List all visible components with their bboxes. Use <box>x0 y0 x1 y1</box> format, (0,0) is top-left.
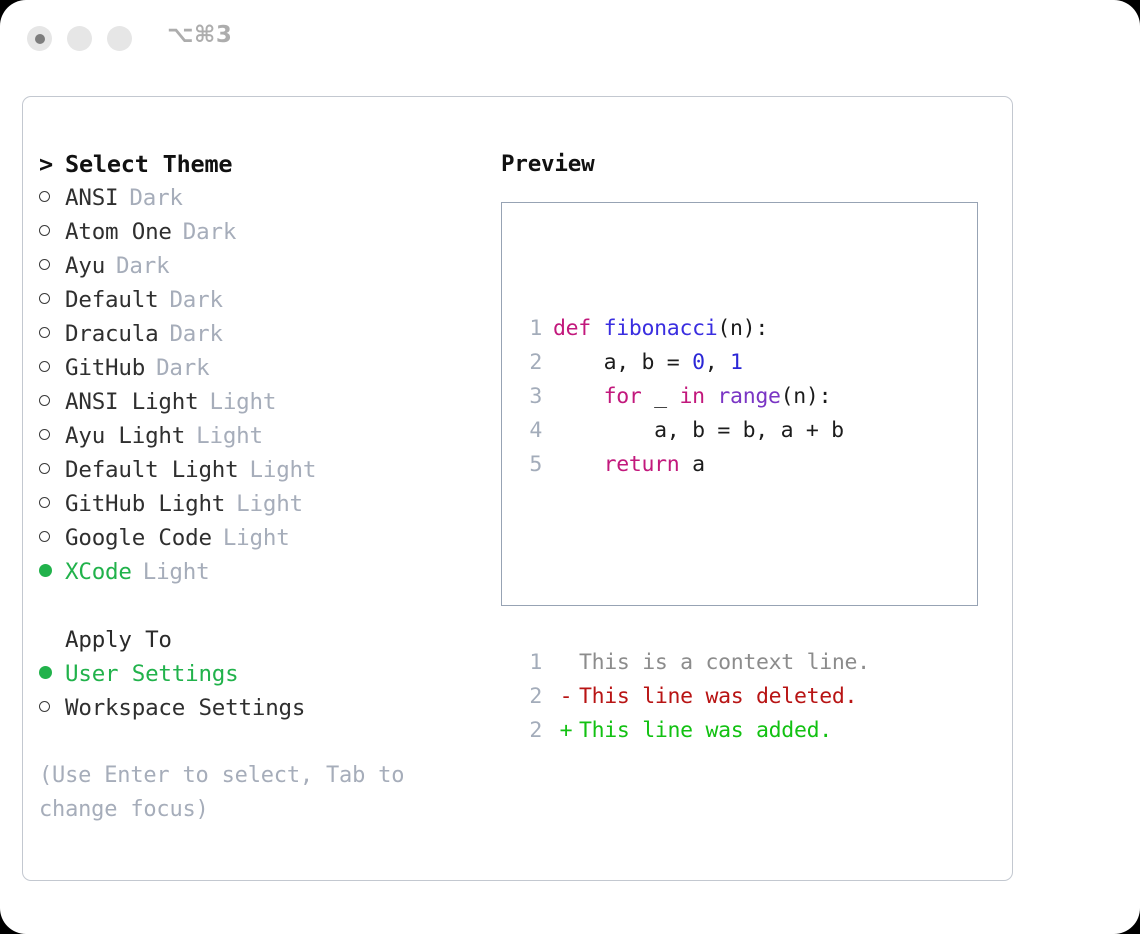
radio-bullet <box>39 293 50 304</box>
line-number: 2 <box>516 714 542 748</box>
code-token-kw: return <box>604 452 680 477</box>
apply-to-option-label: Workspace Settings <box>65 695 305 721</box>
radio-empty-icon <box>39 215 65 249</box>
prompt-caret-icon: > <box>39 147 65 181</box>
code-preview: 1def fibonacci(n):2 a, b = 0, 13 for _ i… <box>516 244 870 816</box>
theme-option-label: ANSI Light <box>65 389 198 415</box>
theme-variant-badge: Dark <box>116 253 169 279</box>
code-token-kw: for <box>604 384 642 409</box>
diff-line: 2+This line was added. <box>516 714 870 748</box>
code-token-txt: , <box>705 350 730 375</box>
diff-line: 2-This line was deleted. <box>516 680 870 714</box>
radio-empty-icon <box>39 419 65 453</box>
code-token-num: 1 <box>730 350 743 375</box>
preview-title: Preview <box>501 147 1001 181</box>
theme-option-ayu-light[interactable]: Ayu LightLight <box>39 419 479 453</box>
radio-empty-icon <box>39 249 65 283</box>
radio-bullet <box>39 225 50 236</box>
line-number: 1 <box>516 646 542 680</box>
theme-list-column: >Select Theme ANSIDarkAtom OneDarkAyuDar… <box>39 147 479 827</box>
code-token-kw: def <box>553 316 604 341</box>
theme-option-label: Ayu Light <box>65 423 185 449</box>
theme-option-default-light[interactable]: Default LightLight <box>39 453 479 487</box>
theme-option-google-code[interactable]: Google CodeLight <box>39 521 479 555</box>
code-line: 3 for _ in range(n): <box>516 380 870 414</box>
theme-option-github-light[interactable]: GitHub LightLight <box>39 487 479 521</box>
radio-bullet <box>39 191 50 202</box>
apply-to-option-label: User Settings <box>65 661 239 687</box>
select-theme-header: >Select Theme <box>39 147 479 181</box>
code-line: 2 a, b = 0, 1 <box>516 346 870 380</box>
code-line: 5 return a <box>516 448 870 482</box>
traffic-light-active-indicator <box>35 34 45 44</box>
theme-variant-badge: Dark <box>156 355 209 381</box>
select-theme-label: Select Theme <box>65 150 232 178</box>
theme-option-label: Dracula <box>65 321 158 347</box>
theme-option-label: Ayu <box>65 253 105 279</box>
code-token-txt: a, b = b, a + b <box>553 418 844 443</box>
line-number: 4 <box>516 414 542 448</box>
apply-to-option-user-settings[interactable]: User Settings <box>39 657 479 691</box>
theme-variant-badge: Light <box>223 525 290 551</box>
theme-selector-panel: >Select Theme ANSIDarkAtom OneDarkAyuDar… <box>22 96 1013 881</box>
radio-bullet <box>39 395 50 406</box>
theme-variant-badge: Light <box>236 491 303 517</box>
section-spacer <box>39 589 479 623</box>
traffic-light-maximize[interactable] <box>107 26 132 51</box>
diff-sign <box>553 646 579 680</box>
title-bar: ⌥⌘3 <box>0 0 1140 78</box>
theme-option-dracula[interactable]: DraculaDark <box>39 317 479 351</box>
radio-bullet <box>39 531 50 542</box>
theme-variant-badge: Dark <box>129 185 182 211</box>
diff-line: 1 This is a context line. <box>516 646 870 680</box>
preview-column: Preview 1def fibonacci(n):2 a, b = 0, 13… <box>501 147 1001 606</box>
theme-option-github[interactable]: GitHubDark <box>39 351 479 385</box>
radio-empty-icon <box>39 521 65 555</box>
theme-option-label: Default Light <box>65 457 239 483</box>
code-token-call: range <box>717 384 780 409</box>
code-diff-gap <box>516 550 870 578</box>
theme-option-label: Atom One <box>65 219 172 245</box>
radio-empty-icon <box>39 691 65 725</box>
apply-to-options-list: User SettingsWorkspace Settings <box>39 657 479 725</box>
preview-box: 1def fibonacci(n):2 a, b = 0, 13 for _ i… <box>501 202 978 606</box>
theme-option-label: GitHub Light <box>65 491 225 517</box>
theme-variant-badge: Dark <box>169 287 222 313</box>
radio-bullet <box>39 666 52 679</box>
code-token-txt: a <box>679 452 704 477</box>
line-number: 2 <box>516 346 542 380</box>
app-window: ⌥⌘3 >Select Theme ANSIDarkAtom OneDarkAy… <box>0 0 1140 934</box>
theme-option-label: Default <box>65 287 158 313</box>
theme-variant-badge: Light <box>143 559 210 585</box>
radio-empty-icon <box>39 487 65 521</box>
keyboard-shortcut-label: ⌥⌘3 <box>167 22 232 48</box>
code-token-num: 0 <box>692 350 705 375</box>
code-sample: 1def fibonacci(n):2 a, b = 0, 13 for _ i… <box>516 312 870 482</box>
code-token-txt <box>553 384 604 409</box>
code-token-kw: in <box>679 384 704 409</box>
theme-variant-badge: Light <box>196 423 263 449</box>
theme-variant-badge: Dark <box>183 219 236 245</box>
line-number: 5 <box>516 448 542 482</box>
theme-option-label: GitHub <box>65 355 145 381</box>
line-number: 3 <box>516 380 542 414</box>
theme-variant-badge: Dark <box>169 321 222 347</box>
code-token-txt: _ <box>642 384 680 409</box>
line-number: 1 <box>516 312 542 346</box>
radio-bullet <box>39 429 50 440</box>
diff-sign: - <box>553 680 579 714</box>
theme-options-list: ANSIDarkAtom OneDarkAyuDarkDefaultDarkDr… <box>39 181 479 589</box>
theme-variant-badge: Light <box>209 389 276 415</box>
radio-empty-icon <box>39 181 65 215</box>
code-token-txt: (n): <box>717 316 768 341</box>
code-token-fn: fibonacci <box>604 316 718 341</box>
code-token-txt <box>553 452 604 477</box>
theme-option-label: ANSI <box>65 185 118 211</box>
keyboard-hint-text: (Use Enter to select, Tab to change focu… <box>39 759 439 827</box>
theme-option-ayu[interactable]: AyuDark <box>39 249 479 283</box>
radio-empty-icon <box>39 283 65 317</box>
radio-empty-icon <box>39 317 65 351</box>
theme-option-ansi-light[interactable]: ANSI LightLight <box>39 385 479 419</box>
code-token-txt <box>705 384 718 409</box>
code-line: 1def fibonacci(n): <box>516 312 870 346</box>
code-line: 4 a, b = b, a + b <box>516 414 870 448</box>
radio-bullet <box>39 327 50 338</box>
radio-empty-icon <box>39 453 65 487</box>
apply-to-label: Apply To <box>39 623 479 657</box>
theme-option-ansi[interactable]: ANSIDark <box>39 181 479 215</box>
radio-selected-icon <box>39 657 65 691</box>
code-token-txt: a, b = <box>553 350 692 375</box>
radio-empty-icon <box>39 351 65 385</box>
diff-sign: + <box>553 714 579 748</box>
radio-selected-icon <box>39 555 65 589</box>
theme-option-xcode[interactable]: XCodeLight <box>39 555 479 589</box>
theme-option-atom-one[interactable]: Atom OneDark <box>39 215 479 249</box>
diff-text: This line was deleted. <box>579 684 857 709</box>
apply-to-option-workspace-settings[interactable]: Workspace Settings <box>39 691 479 725</box>
radio-bullet <box>39 497 50 508</box>
diff-text: This is a context line. <box>579 650 870 675</box>
radio-bullet <box>39 259 50 270</box>
theme-option-label: Google Code <box>65 525 212 551</box>
radio-empty-icon <box>39 385 65 419</box>
traffic-light-close[interactable] <box>27 26 52 51</box>
diff-text: This line was added. <box>579 718 832 743</box>
theme-option-label: XCode <box>65 559 132 585</box>
radio-bullet <box>39 361 50 372</box>
diff-sample: 1 This is a context line.2-This line was… <box>516 646 870 748</box>
theme-variant-badge: Light <box>250 457 317 483</box>
traffic-light-minimize[interactable] <box>67 26 92 51</box>
radio-bullet <box>39 564 52 577</box>
radio-bullet <box>39 463 50 474</box>
theme-option-default[interactable]: DefaultDark <box>39 283 479 317</box>
code-token-txt: (n): <box>781 384 832 409</box>
line-number: 2 <box>516 680 542 714</box>
radio-bullet <box>39 701 50 712</box>
